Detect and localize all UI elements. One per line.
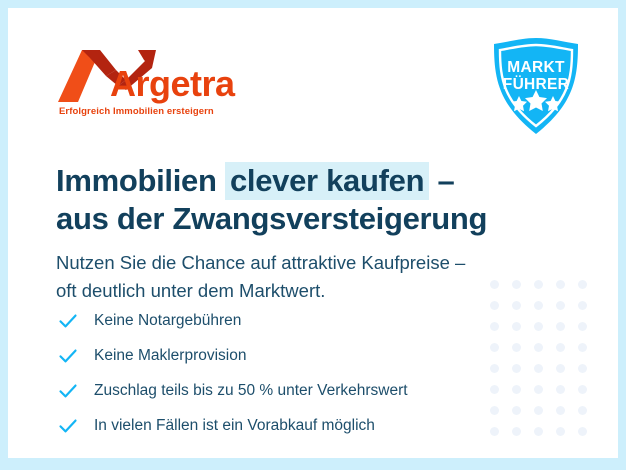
list-item: Keine Notargebühren <box>58 305 408 337</box>
decoration-dot <box>490 427 499 436</box>
decoration-dot <box>578 301 587 310</box>
decoration-dot <box>534 385 543 394</box>
check-icon <box>58 416 78 436</box>
decoration-dot <box>512 385 521 394</box>
decoration-dot <box>512 427 521 436</box>
logo-tagline: Erfolgreich Immobilien ersteigern <box>59 106 214 117</box>
dot-grid-decoration <box>490 278 600 448</box>
decoration-dot <box>512 406 521 415</box>
headline-line-2: aus der Zwangsversteigerung <box>56 201 487 236</box>
subtitle: Nutzen Sie die Chance auf attraktive Kau… <box>56 249 465 306</box>
subtitle-line-1: Nutzen Sie die Chance auf attraktive Kau… <box>56 252 465 273</box>
decoration-dot <box>578 280 587 289</box>
decoration-dot <box>512 364 521 373</box>
decoration-dot <box>578 343 587 352</box>
decoration-dot <box>512 343 521 352</box>
decoration-dot <box>578 322 587 331</box>
headline-part-1: Immobilien <box>56 163 225 198</box>
decoration-dot <box>556 427 565 436</box>
decoration-dot <box>578 385 587 394</box>
decoration-dot <box>490 322 499 331</box>
page-title: Immobilien clever kaufen – aus der Zwang… <box>56 162 487 238</box>
headline-part-2: – <box>429 163 454 198</box>
decoration-dot <box>578 364 587 373</box>
decoration-dot <box>512 280 521 289</box>
list-item: Keine Maklerprovision <box>58 340 408 372</box>
decoration-dot <box>556 406 565 415</box>
decoration-dot <box>534 406 543 415</box>
decoration-dot <box>490 385 499 394</box>
list-item-label: Zuschlag teils bis zu 50 % unter Verkehr… <box>94 382 408 400</box>
headline-highlight: clever kaufen <box>225 162 429 200</box>
decoration-dot <box>534 343 543 352</box>
decoration-dot <box>556 280 565 289</box>
decoration-dot <box>534 427 543 436</box>
decoration-dot <box>534 322 543 331</box>
subtitle-line-2: oft deutlich unter dem Marktwert. <box>56 280 325 301</box>
decoration-dot <box>578 427 587 436</box>
decoration-dot <box>490 280 499 289</box>
decoration-dot <box>512 322 521 331</box>
decoration-dot <box>556 322 565 331</box>
decoration-dot <box>556 385 565 394</box>
decoration-dot <box>490 343 499 352</box>
argetra-logo[interactable]: Argetra Erfolgreich Immobilien ersteiger… <box>56 46 256 118</box>
logo-wordmark: Argetra <box>110 66 235 102</box>
banner-card: Argetra Erfolgreich Immobilien ersteiger… <box>8 8 618 458</box>
decoration-dot <box>556 343 565 352</box>
check-icon <box>58 381 78 401</box>
check-icon <box>58 346 78 366</box>
decoration-dot <box>490 301 499 310</box>
check-icon <box>58 311 78 331</box>
decoration-dot <box>534 364 543 373</box>
list-item: In vielen Fällen ist ein Vorabkauf mögli… <box>58 410 408 442</box>
decoration-dot <box>578 406 587 415</box>
decoration-dot <box>556 364 565 373</box>
decoration-dot <box>490 364 499 373</box>
decoration-dot <box>534 280 543 289</box>
decoration-dot <box>512 301 521 310</box>
list-item: Zuschlag teils bis zu 50 % unter Verkehr… <box>58 375 408 407</box>
list-item-label: Keine Maklerprovision <box>94 347 247 365</box>
decoration-dot <box>490 406 499 415</box>
decoration-dot <box>534 301 543 310</box>
market-leader-badge: MARKT FÜHRER <box>488 36 584 136</box>
promo-banner: Argetra Erfolgreich Immobilien ersteiger… <box>0 0 626 470</box>
benefits-list: Keine Notargebühren Keine Maklerprovisio… <box>58 305 408 445</box>
decoration-dot <box>556 301 565 310</box>
list-item-label: In vielen Fällen ist ein Vorabkauf mögli… <box>94 417 375 435</box>
shield-icon <box>488 36 584 136</box>
list-item-label: Keine Notargebühren <box>94 312 241 330</box>
